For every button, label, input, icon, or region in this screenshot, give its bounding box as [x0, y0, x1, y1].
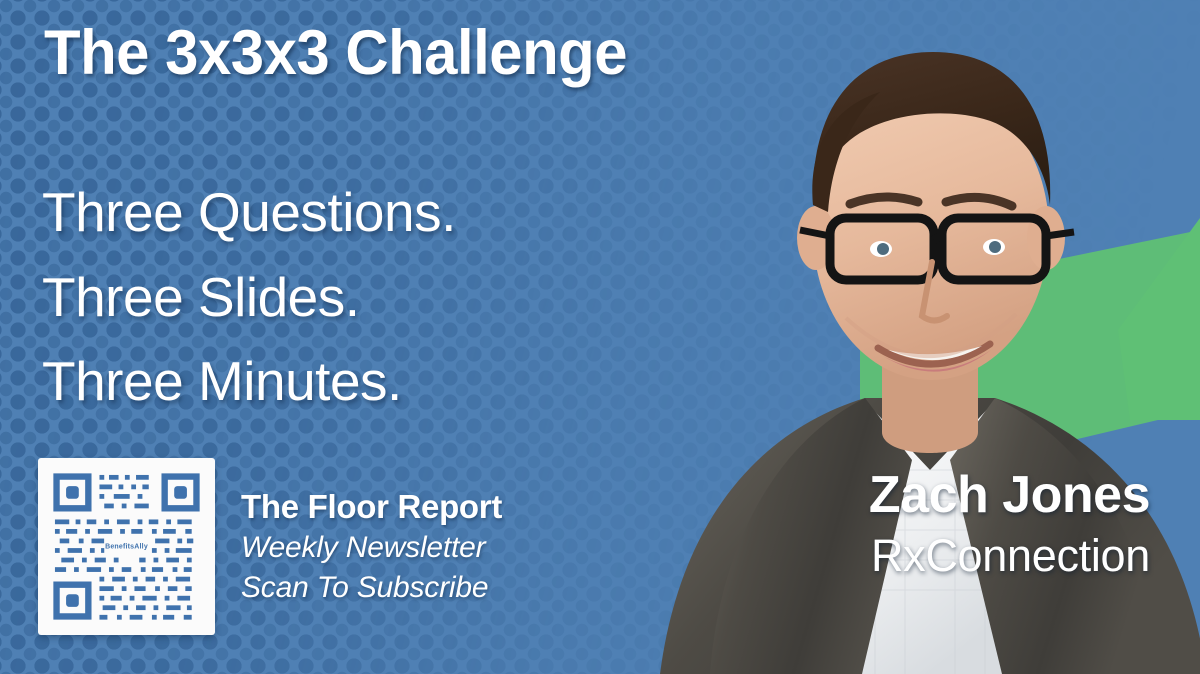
newsletter-callout: BenefitsAlly The Floor Report Weekly New…	[38, 458, 502, 635]
speaker-credit: Zach Jones RxConnection	[869, 469, 1150, 578]
speaker-organization: RxConnection	[869, 533, 1150, 578]
qr-code-icon[interactable]: BenefitsAlly	[38, 458, 215, 635]
subheadline-line-3: Three Minutes.	[42, 339, 456, 424]
subheadline-line-2: Three Slides.	[42, 255, 456, 340]
subheadline-line-1: Three Questions.	[42, 170, 456, 255]
newsletter-text-block: The Floor Report Weekly Newsletter Scan …	[241, 490, 502, 603]
speaker-name: Zach Jones	[869, 469, 1150, 521]
page-title: The 3x3x3 Challenge	[44, 22, 627, 85]
presentation-slide: The 3x3x3 Challenge Three Questions. Thr…	[0, 0, 1200, 674]
newsletter-subtitle: Weekly Newsletter	[241, 533, 502, 563]
newsletter-title: The Floor Report	[241, 490, 502, 523]
qr-center-label: BenefitsAlly	[38, 543, 215, 550]
subheadline-block: Three Questions. Three Slides. Three Min…	[42, 170, 456, 424]
newsletter-cta: Scan To Subscribe	[241, 573, 502, 603]
